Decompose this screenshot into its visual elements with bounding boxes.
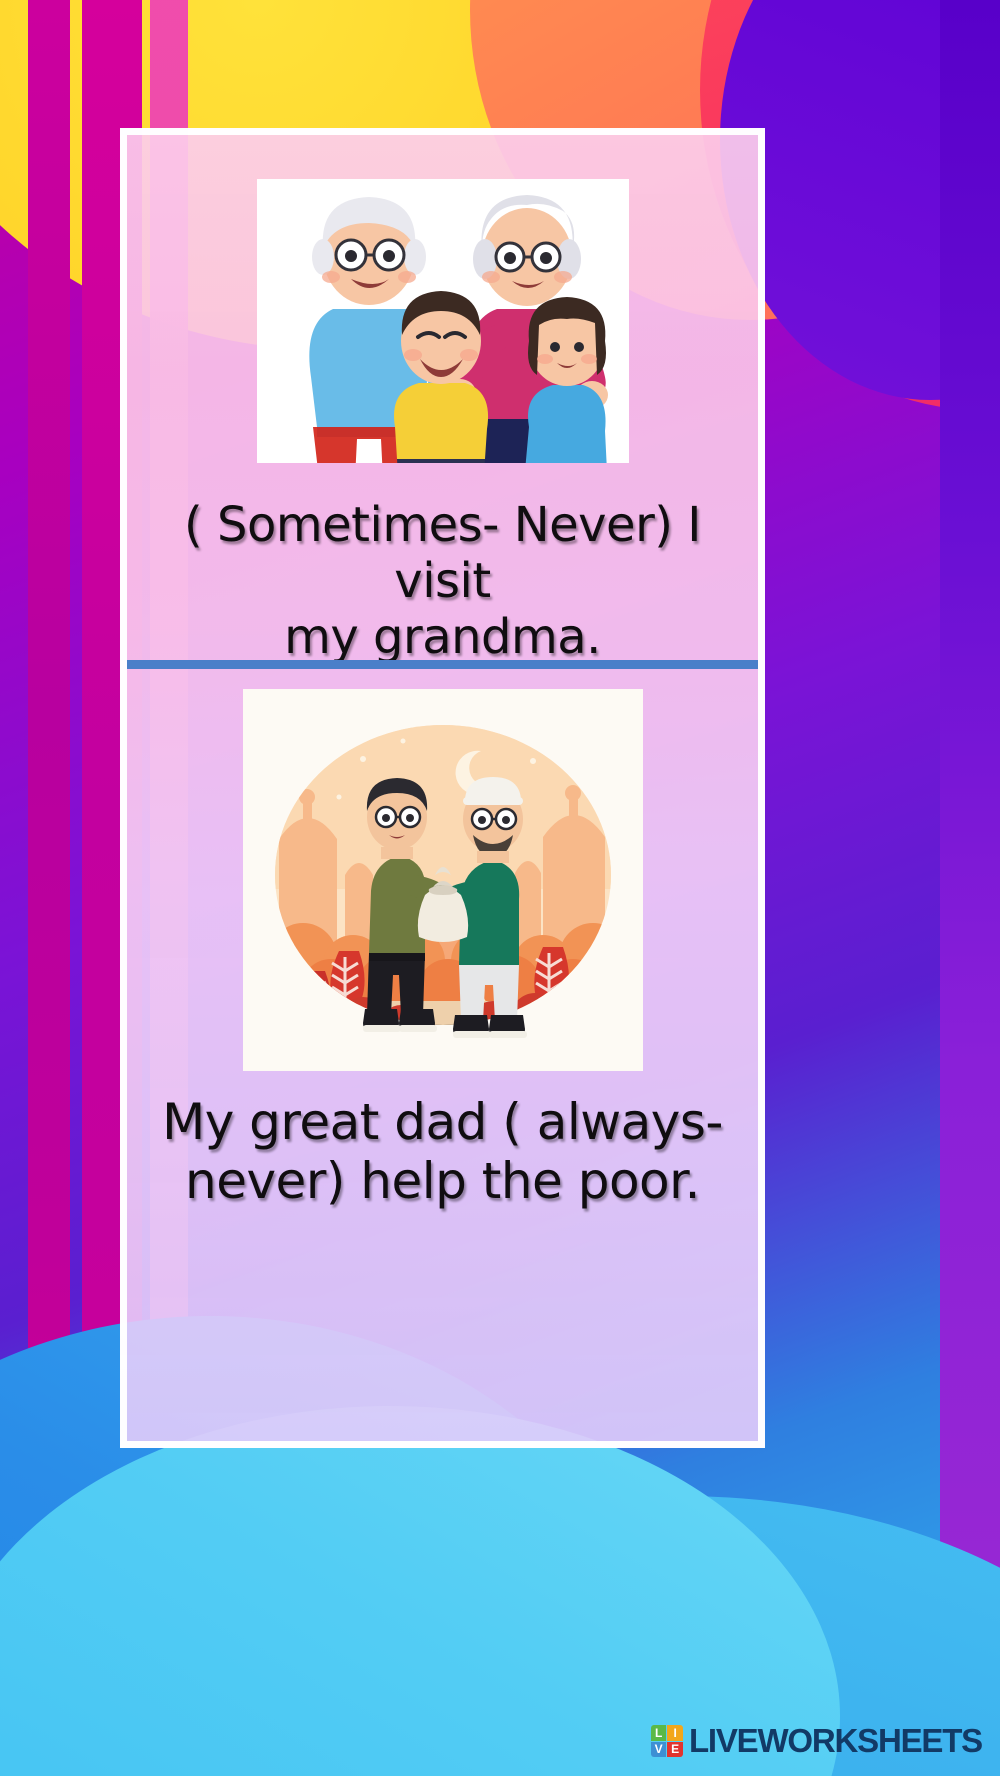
background-band-magenta-1 [28,0,70,1776]
grandparents-illustration-icon [257,179,629,463]
question-2-sentence-line-2: never) help the poor. [185,1152,700,1210]
logo-tile-e: E [667,1742,683,1758]
background-band-violet-right [940,0,1000,1776]
question-2-image [243,689,643,1071]
question-1-sentence-line-2: my grandma. [284,609,601,665]
liveworksheets-logo-icon: L I V E [651,1725,683,1757]
question-block-2: My great dad ( always- never) help the p… [127,669,758,1448]
charity-illustration-icon [243,689,643,1071]
question-1-sentence-line-1: ( Sometimes- Never) I visit [184,497,701,609]
question-2-sentence: My great dad ( always- never) help the p… [127,1093,758,1210]
question-1-sentence: ( Sometimes- Never) I visit my grandma. [127,497,758,665]
divider-line [127,660,758,669]
logo-tile-l: L [651,1725,667,1741]
question-block-1: ( Sometimes- Never) I visit my grandma. [127,135,758,665]
worksheet-canvas: ( Sometimes- Never) I visit my grandma. [0,0,1000,1776]
logo-tile-i: I [667,1725,683,1741]
question-1-image [257,179,629,463]
liveworksheets-logo[interactable]: L I V E LIVEWORKSHEETS [651,1722,982,1760]
logo-tile-v: V [651,1742,667,1758]
worksheet-frame: ( Sometimes- Never) I visit my grandma. [120,128,765,1448]
question-2-sentence-line-1: My great dad ( always- [162,1093,723,1151]
liveworksheets-wordmark: LIVEWORKSHEETS [689,1722,982,1760]
